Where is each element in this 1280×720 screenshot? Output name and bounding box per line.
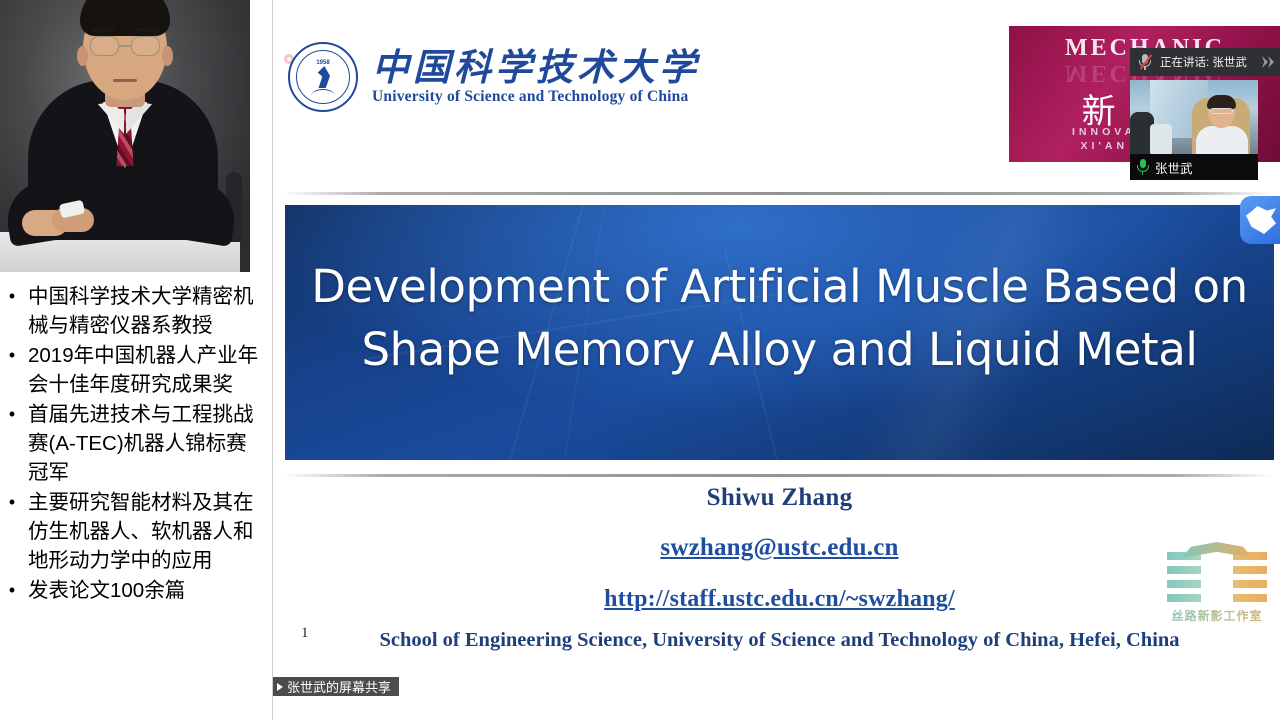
microphone-on-icon	[1136, 159, 1149, 175]
list-item: • 主要研究智能材料及其在仿生机器人、软机器人和地形动力学中的应用	[6, 488, 266, 575]
ustc-seal-year: 1958	[316, 60, 329, 66]
bio-item-text: 首届先进技术与工程挑战赛(A-TEC)机器人锦标赛冠军	[28, 400, 266, 487]
ustc-logo: 1958 中国科学技术大学 University of Science and …	[288, 42, 700, 112]
studio-watermark: 丝路新影工作室	[1167, 532, 1267, 624]
ustc-wordmark: 中国科学技术大学 University of Science and Techn…	[372, 48, 700, 107]
ustc-seal-icon: 1958	[288, 42, 358, 112]
portrait-glasses-left	[90, 36, 119, 56]
speaker-portrait	[0, 0, 250, 272]
author-email-link[interactable]: swzhang@ustc.edu.cn	[285, 534, 1274, 562]
portrait-glasses-right	[131, 36, 160, 56]
author-homepage-link[interactable]: http://staff.ustc.edu.cn/~swzhang/	[285, 586, 1274, 613]
speaker-bio-panel: • 中国科学技术大学精密机械与精密仪器系教授 • 2019年中国机器人产业年会十…	[0, 0, 272, 720]
list-item: • 发表论文100余篇	[6, 576, 266, 605]
bio-item-text: 中国科学技术大学精密机械与精密仪器系教授	[28, 282, 266, 340]
screen-root: • 中国科学技术大学精密机械与精密仪器系教授 • 2019年中国机器人产业年会十…	[0, 0, 1280, 720]
author-affiliation: School of Engineering Science, Universit…	[285, 629, 1274, 652]
ustc-seal-book-icon	[311, 89, 335, 96]
list-item: • 中国科学技术大学精密机械与精密仪器系教授	[6, 282, 266, 340]
active-speaker-label: 正在讲话: 张世武	[1160, 54, 1254, 70]
bullet-icon: •	[6, 282, 18, 311]
watermark-text: 丝路新影工作室	[1165, 607, 1269, 624]
video-person-glasses	[1210, 108, 1233, 114]
play-caret-icon	[277, 683, 283, 691]
screen-share-status-bar: 张世武的屏幕共享	[273, 677, 399, 696]
microphone-muted-icon	[1138, 53, 1152, 71]
portrait-glasses-bridge	[119, 45, 131, 47]
participant-name-bar: 张世武	[1130, 154, 1258, 180]
watermark-gate-icon	[1167, 538, 1267, 600]
shared-screen-area[interactable]: 录制中 1958 中国科学技术大学 University of Science …	[272, 0, 1280, 720]
participant-name: 张世武	[1155, 158, 1193, 177]
divider-bottom	[284, 474, 1273, 477]
video-desk-object	[1150, 124, 1172, 154]
video-person-hair	[1207, 95, 1236, 109]
ustc-name-cn: 中国科学技术大学	[372, 48, 700, 87]
slide-number: 1	[301, 625, 309, 642]
author-name: Shiwu Zhang	[285, 484, 1274, 512]
bullet-icon: •	[6, 576, 18, 605]
portrait-mouth	[113, 79, 137, 82]
list-item: • 首届先进技术与工程挑战赛(A-TEC)机器人锦标赛冠军	[6, 400, 266, 487]
video-feed	[1130, 80, 1258, 154]
bio-item-text: 发表论文100余篇	[28, 576, 266, 605]
video-person-body	[1196, 126, 1248, 154]
bullet-icon: •	[6, 400, 18, 429]
bio-item-text: 主要研究智能材料及其在仿生机器人、软机器人和地形动力学中的应用	[28, 488, 266, 575]
list-item: • 2019年中国机器人产业年会十佳年度研究成果奖	[6, 341, 266, 399]
screen-share-status-text: 张世武的屏幕共享	[287, 677, 391, 696]
page-title: Development of Artificial Muscle Based o…	[285, 255, 1274, 381]
ustc-name-en: University of Science and Technology of …	[372, 88, 700, 106]
author-info-block: Shiwu Zhang swzhang@ustc.edu.cn http://s…	[285, 484, 1274, 652]
ustc-seal-flame-icon	[316, 66, 330, 88]
collapse-chevron-icon[interactable]	[1262, 55, 1276, 69]
speaker-bio-list: • 中国科学技术大学精密机械与精密仪器系教授 • 2019年中国机器人产业年会十…	[0, 278, 272, 606]
bullet-icon: •	[6, 488, 18, 517]
slide-title-band: Development of Artificial Muscle Based o…	[285, 205, 1274, 460]
bio-item-text: 2019年中国机器人产业年会十佳年度研究成果奖	[28, 341, 266, 399]
dove-app-icon[interactable]	[1240, 196, 1280, 244]
portrait-ear-left	[77, 46, 88, 66]
portrait-ear-right	[162, 46, 173, 66]
divider-top	[284, 192, 1273, 195]
active-speaker-bar[interactable]: 正在讲话: 张世武	[1130, 48, 1280, 76]
participant-video-tile[interactable]: 张世武	[1130, 80, 1258, 180]
dove-glyph	[1246, 206, 1276, 234]
bullet-icon: •	[6, 341, 18, 370]
